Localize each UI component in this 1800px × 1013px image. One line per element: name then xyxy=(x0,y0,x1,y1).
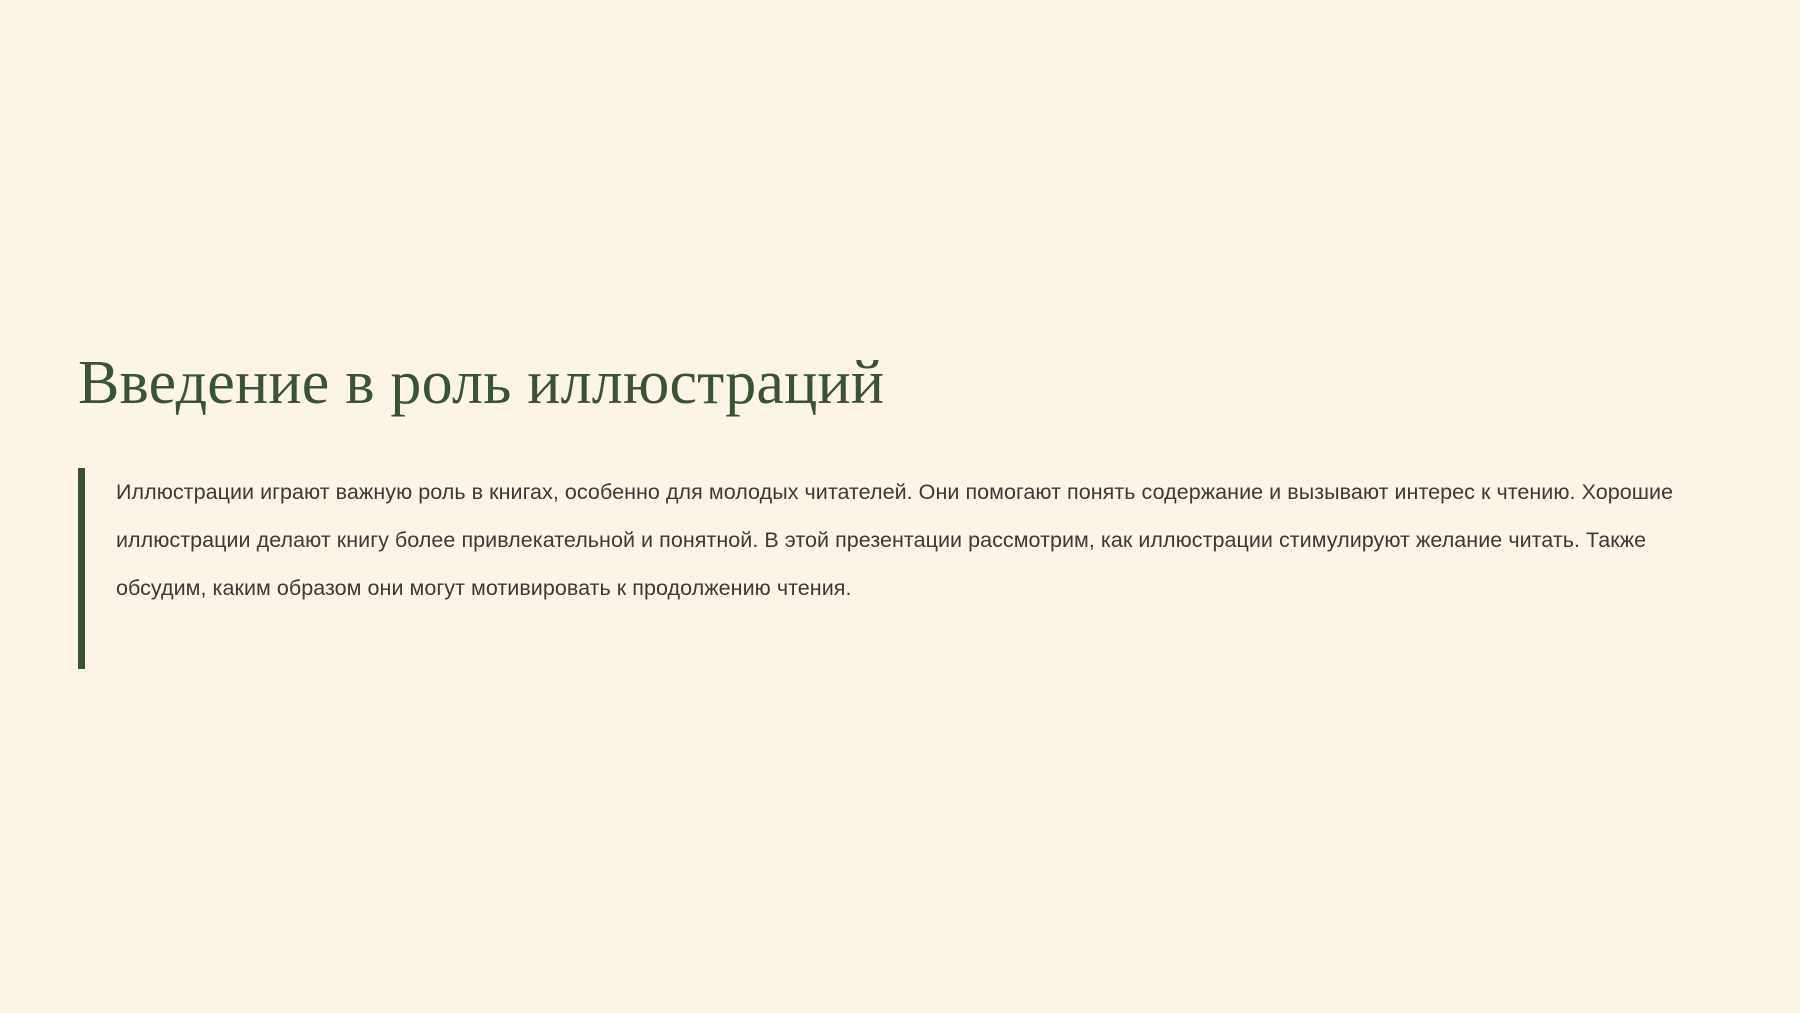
accent-bar xyxy=(78,468,85,669)
body-paragraph: Иллюстрации играют важную роль в книгах,… xyxy=(116,468,1696,612)
body-quote-block: Иллюстрации играют важную роль в книгах,… xyxy=(78,468,1718,669)
page-title: Введение в роль иллюстраций xyxy=(78,352,1718,414)
presentation-slide: Введение в роль иллюстраций Иллюстрации … xyxy=(0,0,1800,1013)
slide-content-area: Введение в роль иллюстраций Иллюстрации … xyxy=(78,352,1718,669)
